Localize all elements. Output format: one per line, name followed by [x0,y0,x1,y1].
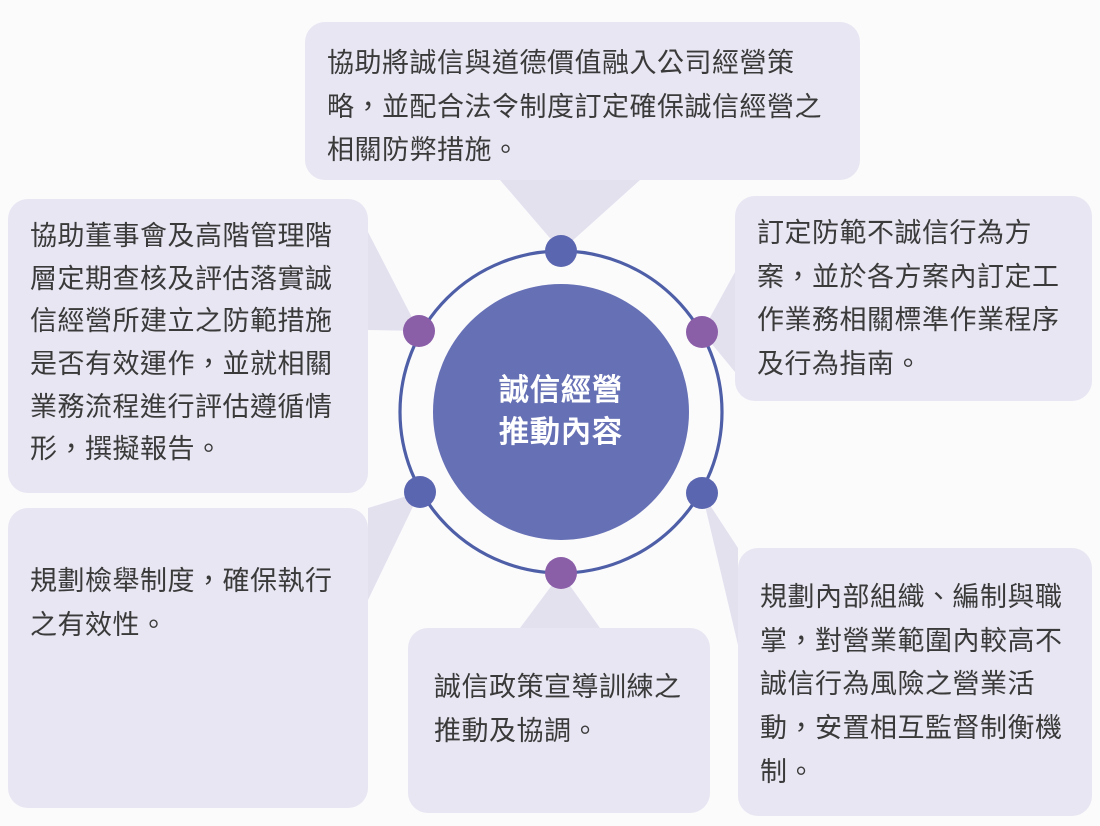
connector-upper-left [368,232,419,331]
node-upper-right [686,316,718,348]
connector-lower-left [368,492,420,600]
hub-inner-disc [433,284,689,540]
callout-lower-left[interactable]: 規劃檢舉制度，確保執行之有效性。 [8,508,368,808]
callout-top[interactable]: 協助將誠信與道德價值融入公司經營策略，並配合法令制度訂定確保誠信經營之相關防弊措… [305,22,860,180]
callout-upper-left[interactable]: 協助董事會及高階管理階層定期查核及評估落實誠信經營所建立之防範措施是否有效運作，… [8,199,368,493]
node-bottom [545,557,577,589]
callout-lower-right[interactable]: 規劃內部組織、編制與職掌，對營業範圍內較高不誠信行為風險之營業活動，安置相互監督… [738,548,1092,816]
hub-label-line1: 誠信經營 [499,374,623,407]
node-upper-left [403,315,435,347]
hub-label-line2: 推動內容 [499,416,623,449]
connector-lower-right [702,493,738,645]
diagram-canvas: 誠信經營 推動內容 協助將誠信與道德價值融入公司經營策略，並配合法令制度訂定確保… [0,0,1100,826]
node-lower-right [686,477,718,509]
callout-upper-right[interactable]: 訂定防範不誠信行為方案，並於各方案內訂定工作業務相關標準作業程序及行為指南。 [735,196,1092,401]
node-top [545,235,577,267]
node-lower-left [404,476,436,508]
callout-bottom[interactable]: 誠信政策宣導訓練之推動及協調。 [408,628,710,813]
